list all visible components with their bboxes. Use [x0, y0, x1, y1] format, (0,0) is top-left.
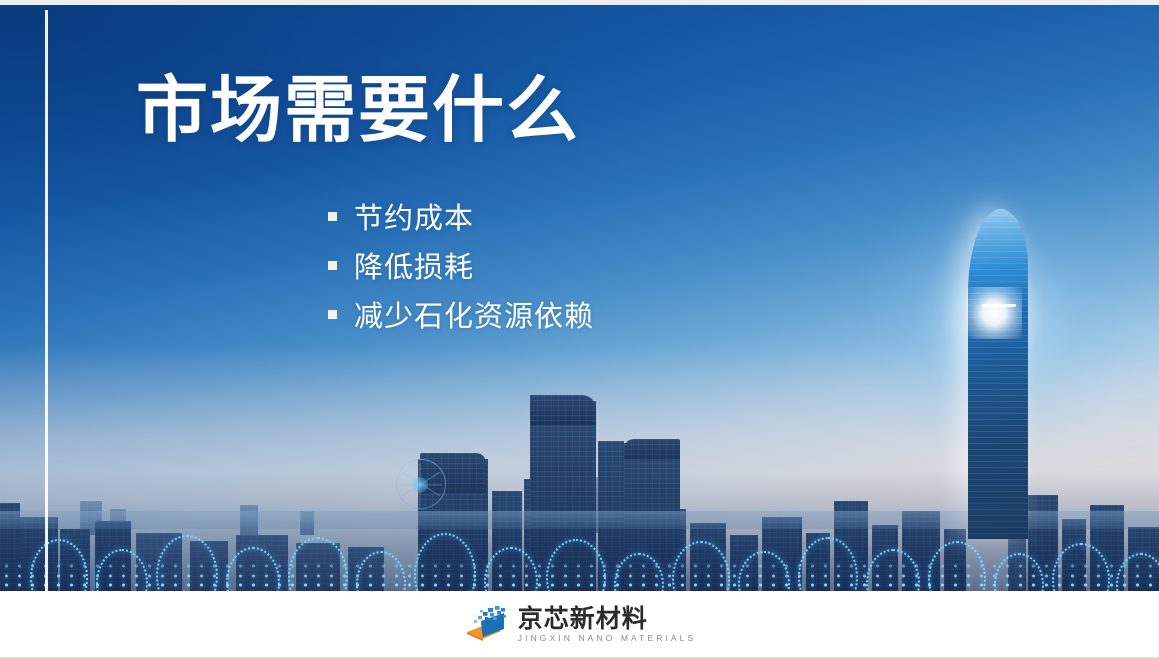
city-skyline: [0, 356, 1159, 591]
left-accent-line: [45, 10, 48, 591]
landmark-tower: [968, 209, 1028, 539]
building: [136, 533, 182, 591]
company-name-en: JINGXIN NANO MATERIALS: [518, 634, 697, 643]
building-tall: [530, 401, 596, 591]
jingxin-pixel-logo-icon: [463, 604, 509, 644]
building: [1062, 519, 1086, 591]
company-logo: 京芯新材料 JINGXIN NANO MATERIALS: [463, 604, 697, 644]
list-item-label: 减少石化资源依赖: [354, 293, 594, 335]
building: [730, 535, 758, 591]
building: [190, 541, 228, 591]
building: [806, 533, 830, 591]
top-edge-strip: [0, 0, 1159, 5]
logo-text: 京芯新材料 JINGXIN NANO MATERIALS: [518, 606, 697, 643]
building: [60, 529, 90, 591]
company-name-cn: 京芯新材料: [518, 606, 697, 631]
tower-sign-band: [982, 304, 1016, 307]
list-item-label: 降低损耗: [354, 244, 474, 286]
building: [348, 547, 384, 591]
slide-bullet-list: 节约成本 降低损耗 减少石化资源依赖: [328, 191, 594, 338]
building: [1028, 495, 1058, 591]
square-bullet-icon: [328, 261, 337, 270]
square-bullet-icon: [328, 212, 337, 221]
building: [944, 529, 966, 591]
building: [492, 491, 522, 591]
building: [1008, 537, 1026, 591]
list-item: 减少石化资源依赖: [328, 289, 594, 338]
building: [690, 523, 726, 591]
building: [872, 525, 898, 591]
building-tall-crown: [530, 395, 596, 425]
building: [1128, 527, 1159, 591]
building: [236, 535, 288, 591]
slide-title: 市场需要什么: [136, 75, 580, 147]
list-item-label: 节约成本: [354, 195, 474, 237]
square-bullet-icon: [328, 310, 337, 319]
presentation-slide: 市场需要什么 节约成本 降低损耗 减少石化资源依赖: [0, 0, 1159, 659]
building: [296, 543, 340, 591]
building-crown: [624, 439, 680, 459]
list-item: 降低损耗: [328, 240, 594, 289]
list-item: 节约成本: [328, 191, 594, 240]
slide-footer: 京芯新材料 JINGXIN NANO MATERIALS: [0, 591, 1159, 657]
ferris-wheel-glow: [412, 477, 428, 493]
building: [95, 521, 131, 591]
